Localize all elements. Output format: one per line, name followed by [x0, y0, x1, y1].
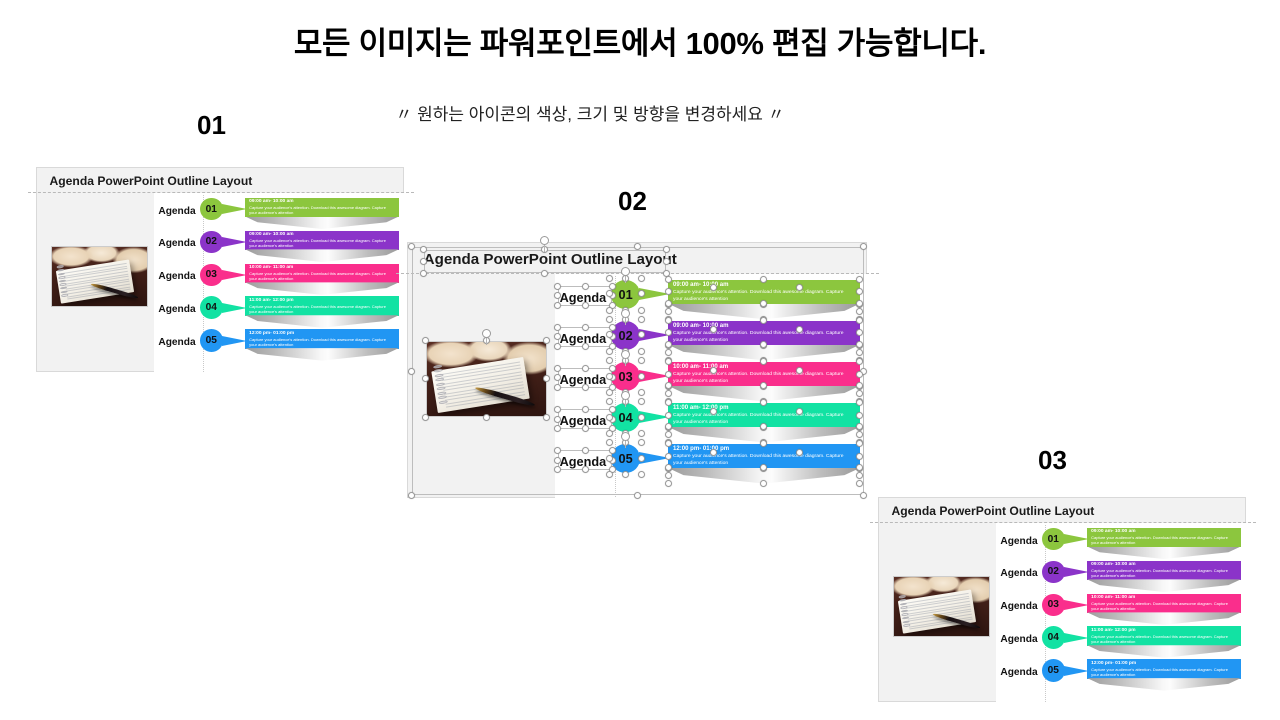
photo-selection-handle[interactable] — [422, 414, 429, 421]
label-selection-handle[interactable] — [609, 365, 616, 372]
agenda-row-label: Agenda — [158, 337, 195, 348]
agenda-number-circle-05[interactable]: 05 — [1042, 659, 1065, 682]
shadow-selection-handle[interactable] — [665, 472, 672, 479]
callout-pointer — [222, 237, 247, 247]
agenda-number-circle-05[interactable]: 05 — [200, 329, 223, 352]
agenda-row-label: Agenda — [1000, 568, 1037, 579]
text-frame-handle[interactable] — [796, 449, 803, 456]
slide-title: Agenda PowerPoint Outline Layout — [892, 504, 1095, 518]
text-frame-handle[interactable] — [796, 326, 803, 333]
ribbon-selection-handle[interactable] — [665, 276, 672, 283]
agenda-number-circle-04[interactable]: 04 — [1042, 626, 1065, 649]
label-selection-handle[interactable] — [554, 457, 561, 464]
circle-selection-handle[interactable] — [638, 275, 645, 282]
agenda-row-label: Agenda — [158, 304, 195, 315]
agenda-ribbon-05[interactable]: 12:00 pm- 01:00 pmCapture your audience'… — [245, 329, 398, 349]
agenda-ribbon-01[interactable]: 09:00 am- 10:00 amCapture your audience'… — [1087, 528, 1240, 548]
ribbon-selection-handle[interactable] — [856, 412, 863, 419]
slide-selection-handle[interactable] — [408, 492, 415, 499]
agenda-time: 11:00 am- 12:00 pm — [1091, 628, 1236, 633]
agenda-ribbon-02[interactable]: 09:00 am- 10:00 amCapture your audience'… — [245, 231, 398, 251]
callout-pointer — [222, 303, 247, 313]
page-subtitle: 〃 원하는 아이콘의 색상, 크기 및 방향을 변경하세요 〃 — [280, 100, 900, 125]
agenda-time: 12:00 pm- 01:00 pm — [1091, 661, 1236, 666]
circle-selection-handle[interactable] — [606, 307, 613, 314]
label-selection-handle[interactable] — [582, 302, 589, 309]
agenda-slide-panel-03[interactable]: Agenda PowerPoint Outline LayoutAgenda01… — [878, 497, 1246, 702]
circle-selection-handle[interactable] — [638, 414, 645, 421]
slide-selection-handle[interactable] — [860, 492, 867, 499]
label-selection-handle[interactable] — [582, 466, 589, 473]
agenda-number-circle-02[interactable]: 02 — [1042, 561, 1065, 584]
callout-pointer — [1064, 567, 1089, 577]
agenda-description: Capture your audience's attention. Downl… — [249, 205, 394, 215]
agenda-time: 09:00 am- 10:00 am — [249, 199, 394, 204]
photo-selection-handle[interactable] — [483, 414, 490, 421]
circle-selection-handle[interactable] — [606, 373, 613, 380]
notebook-photo[interactable] — [51, 246, 148, 307]
agenda-time: 11:00 am- 12:00 pm — [249, 298, 394, 303]
circle-selection-handle[interactable] — [638, 455, 645, 462]
agenda-row-label: Agenda — [1000, 667, 1037, 678]
agenda-ribbon-03[interactable]: 10:00 am- 11:00 amCapture your audience'… — [245, 264, 398, 284]
title-selection-handle[interactable] — [663, 258, 670, 265]
notebook-photo[interactable] — [893, 576, 990, 637]
agenda-number-circle-04[interactable]: 04 — [200, 296, 223, 319]
label-selection-handle[interactable] — [609, 447, 616, 454]
slide-title: Agenda PowerPoint Outline Layout — [50, 174, 253, 188]
label-selection-handle[interactable] — [554, 283, 561, 290]
agenda-description: Capture your audience's attention. Downl… — [1091, 601, 1236, 611]
ribbon-selection-handle[interactable] — [665, 358, 672, 365]
agenda-row-label: Agenda — [158, 271, 195, 282]
agenda-number-circle-01[interactable]: 01 — [1042, 528, 1065, 551]
ribbon-selection-handle[interactable] — [856, 276, 863, 283]
label-selection-handle[interactable] — [582, 425, 589, 432]
photo-rotation-handle[interactable] — [482, 329, 491, 338]
circle-rotation-handle[interactable] — [621, 432, 630, 441]
shadow-selection-handle[interactable] — [665, 382, 672, 389]
agenda-row-label: Agenda — [158, 238, 195, 249]
agenda-number-circle-02[interactable]: 02 — [200, 231, 223, 254]
agenda-description: Capture your audience's attention. Downl… — [249, 304, 394, 314]
text-frame-handle[interactable] — [796, 408, 803, 415]
shadow-selection-handle[interactable] — [665, 423, 672, 430]
text-frame-handle[interactable] — [710, 326, 717, 333]
label-selection-handle[interactable] — [609, 406, 616, 413]
agenda-slide-panel-01[interactable]: Agenda PowerPoint Outline LayoutAgenda01… — [36, 167, 404, 372]
agenda-description: Capture your audience's attention. Downl… — [249, 337, 394, 347]
agenda-description: Capture your audience's attention. Downl… — [1091, 667, 1236, 677]
agenda-description: Capture your audience's attention. Downl… — [249, 238, 394, 248]
label-selection-handle[interactable] — [582, 283, 589, 290]
label-selection-handle[interactable] — [554, 365, 561, 372]
label-selection-handle[interactable] — [582, 447, 589, 454]
step-label-01: 01 — [197, 110, 226, 141]
circle-rotation-handle[interactable] — [621, 309, 630, 318]
circle-selection-handle[interactable] — [606, 348, 613, 355]
circle-selection-handle[interactable] — [622, 471, 629, 478]
circle-selection-handle[interactable] — [606, 398, 613, 405]
agenda-row-label: Agenda — [158, 206, 195, 217]
agenda-ribbon-05[interactable]: 12:00 pm- 01:00 pmCapture your audience'… — [1087, 659, 1240, 679]
rotation-handle[interactable] — [540, 236, 549, 245]
label-selection-handle[interactable] — [554, 324, 561, 331]
shadow-selection-handle[interactable] — [665, 300, 672, 307]
callout-pointer — [222, 270, 247, 280]
page-title: 모든 이미지는 파워포인트에서 100% 편집 가능합니다. — [0, 18, 1280, 63]
agenda-ribbon-03[interactable]: 10:00 am- 11:00 amCapture your audience'… — [1087, 594, 1240, 614]
text-frame-handle[interactable] — [710, 449, 717, 456]
agenda-time: 10:00 am- 11:00 am — [249, 265, 394, 270]
label-selection-handle[interactable] — [554, 406, 561, 413]
shadow-selection-handle[interactable] — [665, 480, 672, 487]
circle-selection-handle[interactable] — [606, 275, 613, 282]
agenda-ribbon-02[interactable]: 09:00 am- 10:00 amCapture your audience'… — [1087, 561, 1240, 581]
agenda-row-label: Agenda — [1000, 601, 1037, 612]
circle-selection-handle[interactable] — [606, 414, 613, 421]
callout-pointer — [1064, 600, 1089, 610]
agenda-ribbon-04[interactable]: 11:00 am- 12:00 pmCapture your audience'… — [245, 296, 398, 316]
circle-selection-handle[interactable] — [606, 316, 613, 323]
ribbon-selection-handle[interactable] — [665, 412, 672, 419]
shadow-selection-handle[interactable] — [665, 390, 672, 397]
agenda-ribbon-04[interactable]: 11:00 am- 12:00 pmCapture your audience'… — [1087, 626, 1240, 646]
shadow-selection-handle[interactable] — [665, 431, 672, 438]
agenda-ribbon-01[interactable]: 09:00 am- 10:00 amCapture your audience'… — [245, 198, 398, 218]
label-selection-handle[interactable] — [582, 406, 589, 413]
circle-selection-handle[interactable] — [606, 357, 613, 364]
label-selection-handle[interactable] — [582, 324, 589, 331]
ribbon-selection-handle[interactable] — [665, 371, 672, 378]
ribbon-selection-handle[interactable] — [665, 317, 672, 324]
circle-rotation-handle[interactable] — [621, 391, 630, 400]
callout-pointer — [1064, 633, 1089, 643]
circle-selection-handle[interactable] — [606, 439, 613, 446]
title-selection-handle[interactable] — [420, 270, 427, 277]
label-selection-handle[interactable] — [554, 416, 561, 423]
agenda-time: 09:00 am- 10:00 am — [1091, 529, 1236, 534]
ribbon-selection-handle[interactable] — [665, 399, 672, 406]
circle-selection-handle[interactable] — [638, 373, 645, 380]
shadow-selection-handle[interactable] — [665, 341, 672, 348]
text-frame-handle[interactable] — [796, 367, 803, 374]
agenda-number-circle-03[interactable]: 03 — [1042, 594, 1065, 617]
agenda-number-circle-01[interactable]: 01 — [200, 198, 223, 221]
agenda-description: Capture your audience's attention. Downl… — [249, 271, 394, 281]
shadow-selection-handle[interactable] — [665, 349, 672, 356]
callout-pointer — [1064, 534, 1089, 544]
agenda-time: 09:00 am- 10:00 am — [249, 232, 394, 237]
step-label-03: 03 — [1038, 445, 1067, 476]
label-selection-handle[interactable] — [582, 343, 589, 350]
circle-rotation-handle[interactable] — [621, 350, 630, 359]
agenda-number-circle-03[interactable]: 03 — [200, 264, 223, 287]
agenda-time: 10:00 am- 11:00 am — [1091, 595, 1236, 600]
slide-selection-handle[interactable] — [860, 243, 867, 250]
ribbon-selection-handle[interactable] — [665, 453, 672, 460]
agenda-description: Capture your audience's attention. Downl… — [1091, 535, 1236, 545]
agenda-description: Capture your audience's attention. Downl… — [1091, 634, 1236, 644]
agenda-row-label: Agenda — [1000, 634, 1037, 645]
agenda-description: Capture your audience's attention. Downl… — [1091, 568, 1236, 578]
agenda-slide-panel-02[interactable]: Agenda PowerPoint Outline LayoutAgenda01… — [407, 242, 867, 498]
photo-selection-handle[interactable] — [543, 414, 550, 421]
ribbon-selection-handle[interactable] — [665, 440, 672, 447]
ribbon-selection-handle[interactable] — [856, 453, 863, 460]
agenda-time: 12:00 pm- 01:00 pm — [249, 331, 394, 336]
label-selection-handle[interactable] — [554, 447, 561, 454]
circle-selection-handle[interactable] — [606, 455, 613, 462]
ribbon-selection-handle[interactable] — [856, 371, 863, 378]
label-selection-handle[interactable] — [582, 365, 589, 372]
agenda-time: 09:00 am- 10:00 am — [1091, 562, 1236, 567]
text-frame-handle[interactable] — [710, 367, 717, 374]
shadow-selection-handle[interactable] — [665, 308, 672, 315]
callout-pointer — [1064, 666, 1089, 676]
callout-pointer — [222, 336, 247, 346]
circle-selection-handle[interactable] — [638, 316, 645, 323]
label-selection-handle[interactable] — [609, 283, 616, 290]
agenda-row-label: Agenda — [1000, 536, 1037, 547]
callout-pointer — [222, 204, 247, 214]
step-label-02: 02 — [618, 186, 647, 217]
text-frame-handle[interactable] — [710, 408, 717, 415]
slide-canvas: 모든 이미지는 파워포인트에서 100% 편집 가능합니다. 〃 원하는 아이콘… — [0, 0, 1280, 720]
label-selection-handle[interactable] — [609, 324, 616, 331]
label-selection-handle[interactable] — [582, 384, 589, 391]
